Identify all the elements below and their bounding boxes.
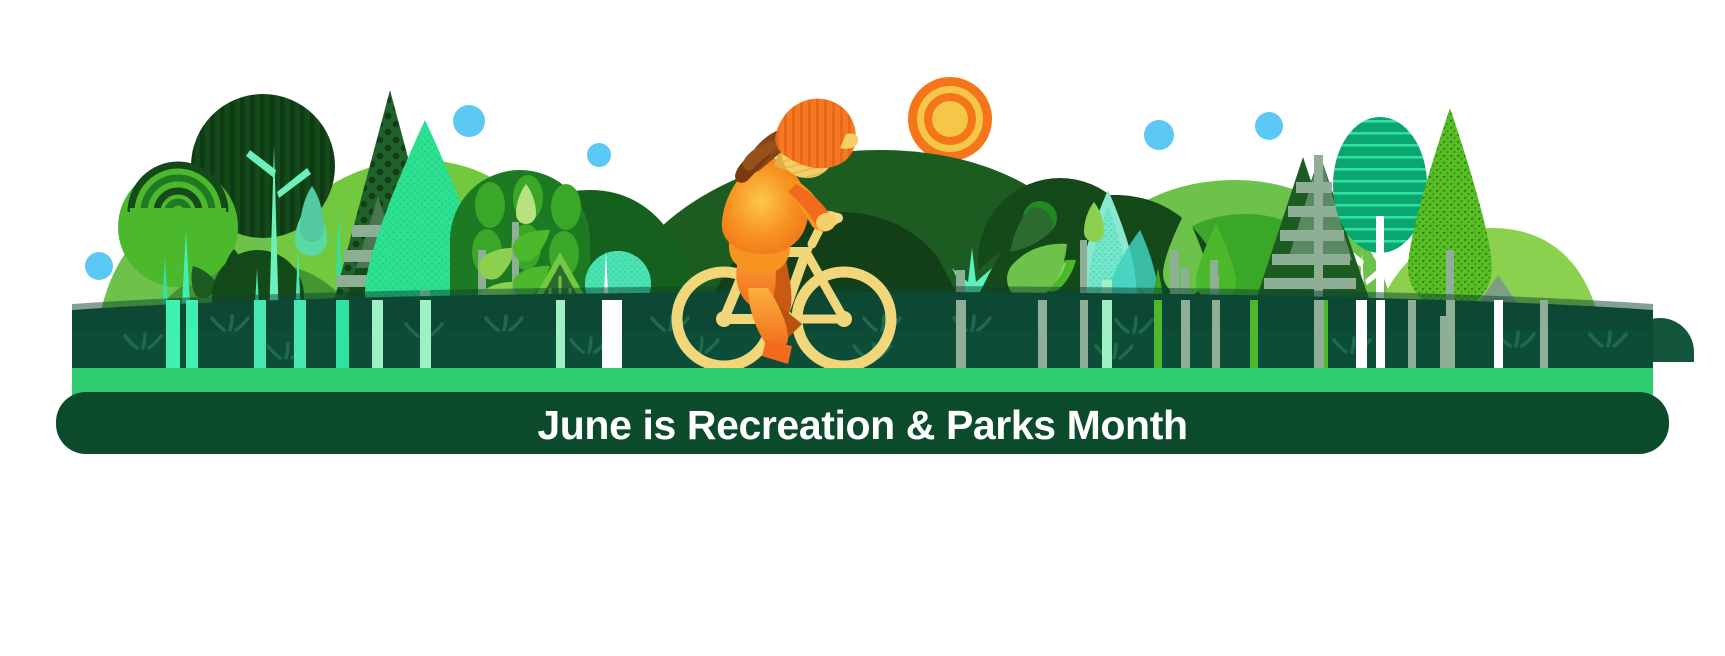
illustration-banner: June is Recreation & Parks Month <box>0 0 1725 656</box>
sun-icon <box>908 77 992 161</box>
sky-dot-icon <box>453 105 485 137</box>
sky-dot-icon <box>85 252 113 280</box>
sky-dot-icon <box>1255 112 1283 140</box>
bike-hub <box>716 311 732 327</box>
sky-dot-icon <box>1144 120 1174 150</box>
bike-hub <box>836 311 852 327</box>
forest-scene-illustration <box>0 0 1725 656</box>
sky-dot-icon <box>587 143 611 167</box>
title-banner-bar <box>56 392 1669 454</box>
